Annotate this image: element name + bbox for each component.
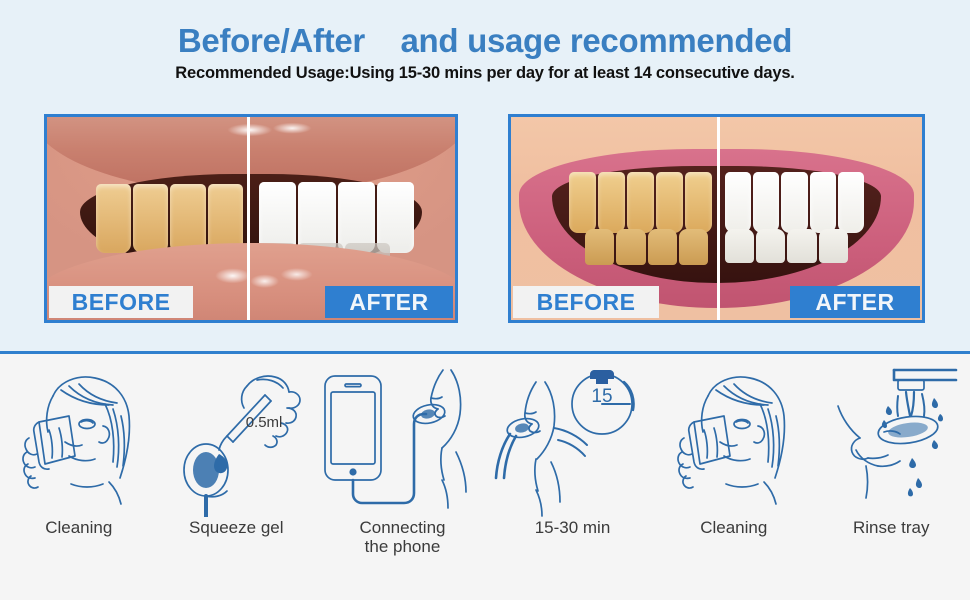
before-after-divider-line <box>717 117 720 320</box>
tooth <box>787 229 816 264</box>
comparison-photo-1: BEFORE AFTER <box>44 114 458 323</box>
after-badge: AFTER <box>790 286 920 318</box>
woman-drinking-cup-icon <box>0 354 158 514</box>
usage-subtitle-lead: Recommended Usage: <box>175 64 349 82</box>
phone-connected-mouthpiece-icon <box>315 354 490 514</box>
usage-step-caption: Squeeze gel <box>189 518 284 537</box>
tooth <box>96 184 131 253</box>
comparison-photo-2: BEFORE AFTER <box>508 114 925 323</box>
tooth <box>756 229 785 264</box>
before-badge: BEFORE <box>49 286 193 318</box>
usage-step-caption: Cleaning <box>45 518 112 537</box>
woman-drinking-cup-icon <box>655 354 813 514</box>
tooth <box>725 229 754 264</box>
promo-page: Before/After and usage recommended Recom… <box>0 0 970 600</box>
usage-step: Rinse tray <box>813 354 970 600</box>
tooth <box>585 229 614 266</box>
usage-steps-section: Cleaning <box>0 354 970 600</box>
stopwatch-value: 15 <box>591 386 612 407</box>
usage-step: Squeeze gel 0.5ml <box>158 354 316 600</box>
tooth <box>170 184 205 253</box>
usage-step: Cleaning <box>0 354 158 600</box>
dropper-gel-tray-icon <box>158 354 316 514</box>
after-badge: AFTER <box>325 286 453 318</box>
tooth <box>598 172 625 233</box>
usage-step-caption: Connecting the phone <box>359 518 445 556</box>
usage-step-caption: 15-30 min <box>535 518 611 537</box>
tooth <box>569 172 596 233</box>
lower-stained-teeth-group <box>585 229 708 266</box>
tooth <box>781 172 807 233</box>
tooth <box>753 172 779 233</box>
usage-subtitle: Recommended Usage:Using 15-30 mins per d… <box>0 64 970 83</box>
lower-whitened-teeth-group <box>725 229 848 264</box>
tooth <box>627 172 654 233</box>
tooth <box>679 229 708 266</box>
usage-steps-row: Cleaning <box>0 354 970 600</box>
usage-step: Connecting the phone <box>315 354 490 600</box>
lip-gloss-highlight <box>210 265 324 291</box>
usage-step-caption: Cleaning <box>700 518 767 537</box>
before-after-divider-line <box>247 117 250 320</box>
tooth <box>656 172 683 233</box>
tooth <box>616 229 645 266</box>
tooth <box>838 172 864 233</box>
lip-gloss-highlight-top <box>218 121 324 139</box>
faucet-rinse-tray-icon <box>813 354 970 514</box>
usage-subtitle-rest: Using 15-30 mins per day for at least 14… <box>350 64 795 82</box>
page-title: Before/After and usage recommended <box>0 22 970 60</box>
tooth <box>819 229 848 264</box>
tooth <box>648 229 677 266</box>
gel-volume-annotation: 0.5ml <box>246 414 283 431</box>
stopwatch-mouthpiece-icon: 15 <box>490 354 655 514</box>
usage-step-caption: Rinse tray <box>853 518 930 537</box>
usage-step: 15 <box>490 354 655 600</box>
usage-step: Cleaning <box>655 354 813 600</box>
before-after-section: Before/After and usage recommended Recom… <box>0 0 970 351</box>
tooth <box>810 172 836 233</box>
tooth <box>685 172 712 233</box>
whitened-teeth-group <box>725 172 865 233</box>
before-badge: BEFORE <box>513 286 659 318</box>
tooth <box>725 172 751 233</box>
stained-teeth-group <box>569 172 713 233</box>
tooth <box>133 184 168 253</box>
